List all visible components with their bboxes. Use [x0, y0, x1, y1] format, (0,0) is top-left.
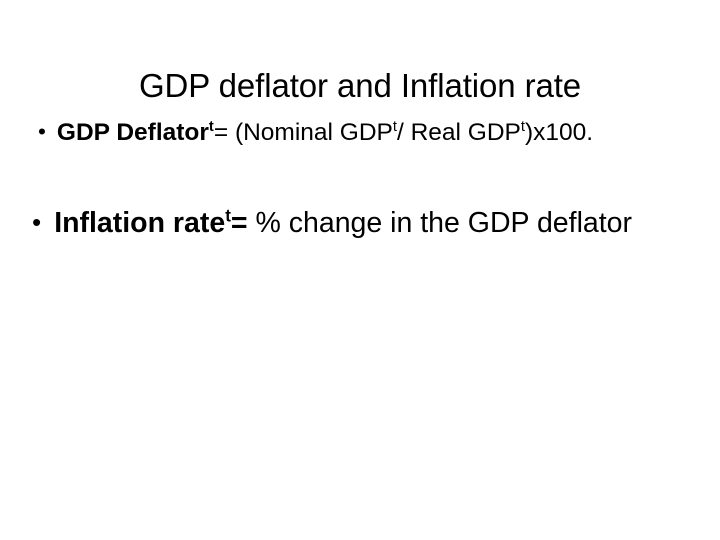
definition-text: % change in the GDP deflator — [248, 207, 632, 239]
bullet-marker-icon: • — [32, 209, 41, 235]
formula-mid: / Real GDP — [397, 119, 521, 146]
formula-close: )x100. — [525, 119, 593, 146]
bullet-list: • GDP Deflatort= (Nominal GDPt/ Real GDP… — [0, 116, 720, 242]
bullet-marker-icon: • — [38, 121, 46, 144]
term-inflation-rate: Inflation rate — [54, 207, 225, 239]
bullet-text-inflation-rate: Inflation ratet= % change in the GDP def… — [54, 204, 632, 242]
list-item: • Inflation ratet= % change in the GDP d… — [0, 204, 720, 242]
formula-open: (Nominal GDP — [235, 119, 393, 146]
equals-sign: = — [231, 207, 248, 239]
page-title: GDP deflator and Inflation rate — [0, 66, 720, 106]
equals-sign: = — [214, 119, 235, 146]
list-item: • GDP Deflatort= (Nominal GDPt/ Real GDP… — [0, 116, 720, 150]
empty-content-area — [0, 262, 720, 540]
bullet-text-gdp-deflator: GDP Deflatort= (Nominal GDPt/ Real GDPt)… — [57, 116, 593, 150]
slide-canvas: GDP deflator and Inflation rate • GDP De… — [0, 0, 720, 540]
term-gdp-deflator: GDP Deflator — [57, 119, 209, 146]
